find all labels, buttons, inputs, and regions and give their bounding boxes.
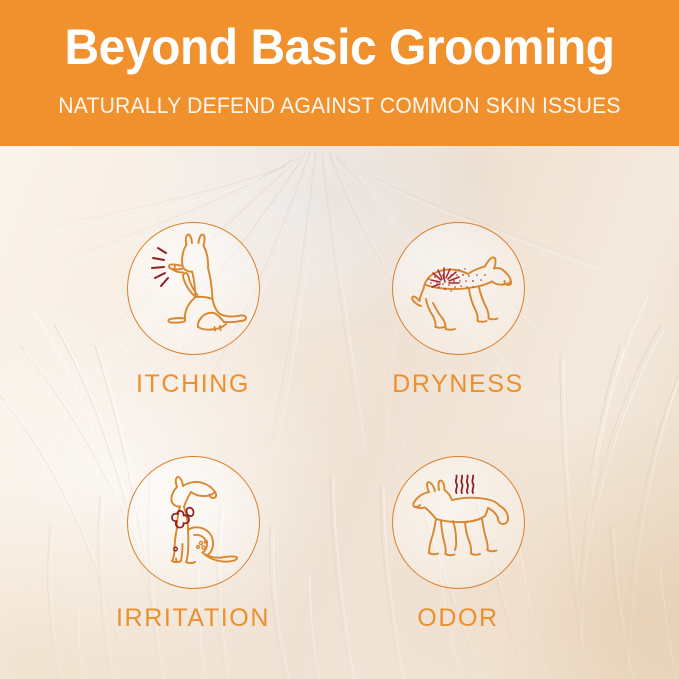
feature-item-irritation: IRRITATION (73, 456, 313, 633)
irritation-spot (173, 547, 177, 551)
feature-grid: ITCHING (0, 146, 679, 679)
feature-label-odor: ODOR (338, 603, 578, 633)
dog-irritated-patch-icon (128, 457, 260, 589)
feature-label-itching: ITCHING (73, 369, 313, 399)
dog-scratching-icon (128, 223, 260, 355)
icon-circle-dryness (392, 222, 525, 355)
feature-item-itching: ITCHING (73, 222, 313, 399)
icon-circle-irritation (127, 456, 260, 589)
feature-item-odor: ODOR (338, 456, 578, 633)
page-subtitle: NATURALLY DEFEND AGAINST COMMON SKIN ISS… (20, 92, 658, 120)
header-banner: Beyond Basic Grooming NATURALLY DEFEND A… (0, 0, 679, 146)
infographic-canvas: Beyond Basic Grooming NATURALLY DEFEND A… (0, 0, 679, 679)
dog-dry-flaky-skin-icon (393, 223, 525, 355)
icon-circle-itching (127, 222, 260, 355)
feature-item-dryness: DRYNESS (338, 222, 578, 399)
irritated-skin-patch (172, 508, 194, 528)
feature-label-irritation: IRRITATION (73, 603, 313, 633)
feature-label-dryness: DRYNESS (338, 369, 578, 399)
page-title: Beyond Basic Grooming (14, 18, 666, 76)
dog-odor-icon (393, 457, 525, 589)
icon-circle-odor (392, 456, 525, 589)
itch-motion-lines (152, 248, 168, 286)
odor-wavy-lines (455, 476, 473, 494)
